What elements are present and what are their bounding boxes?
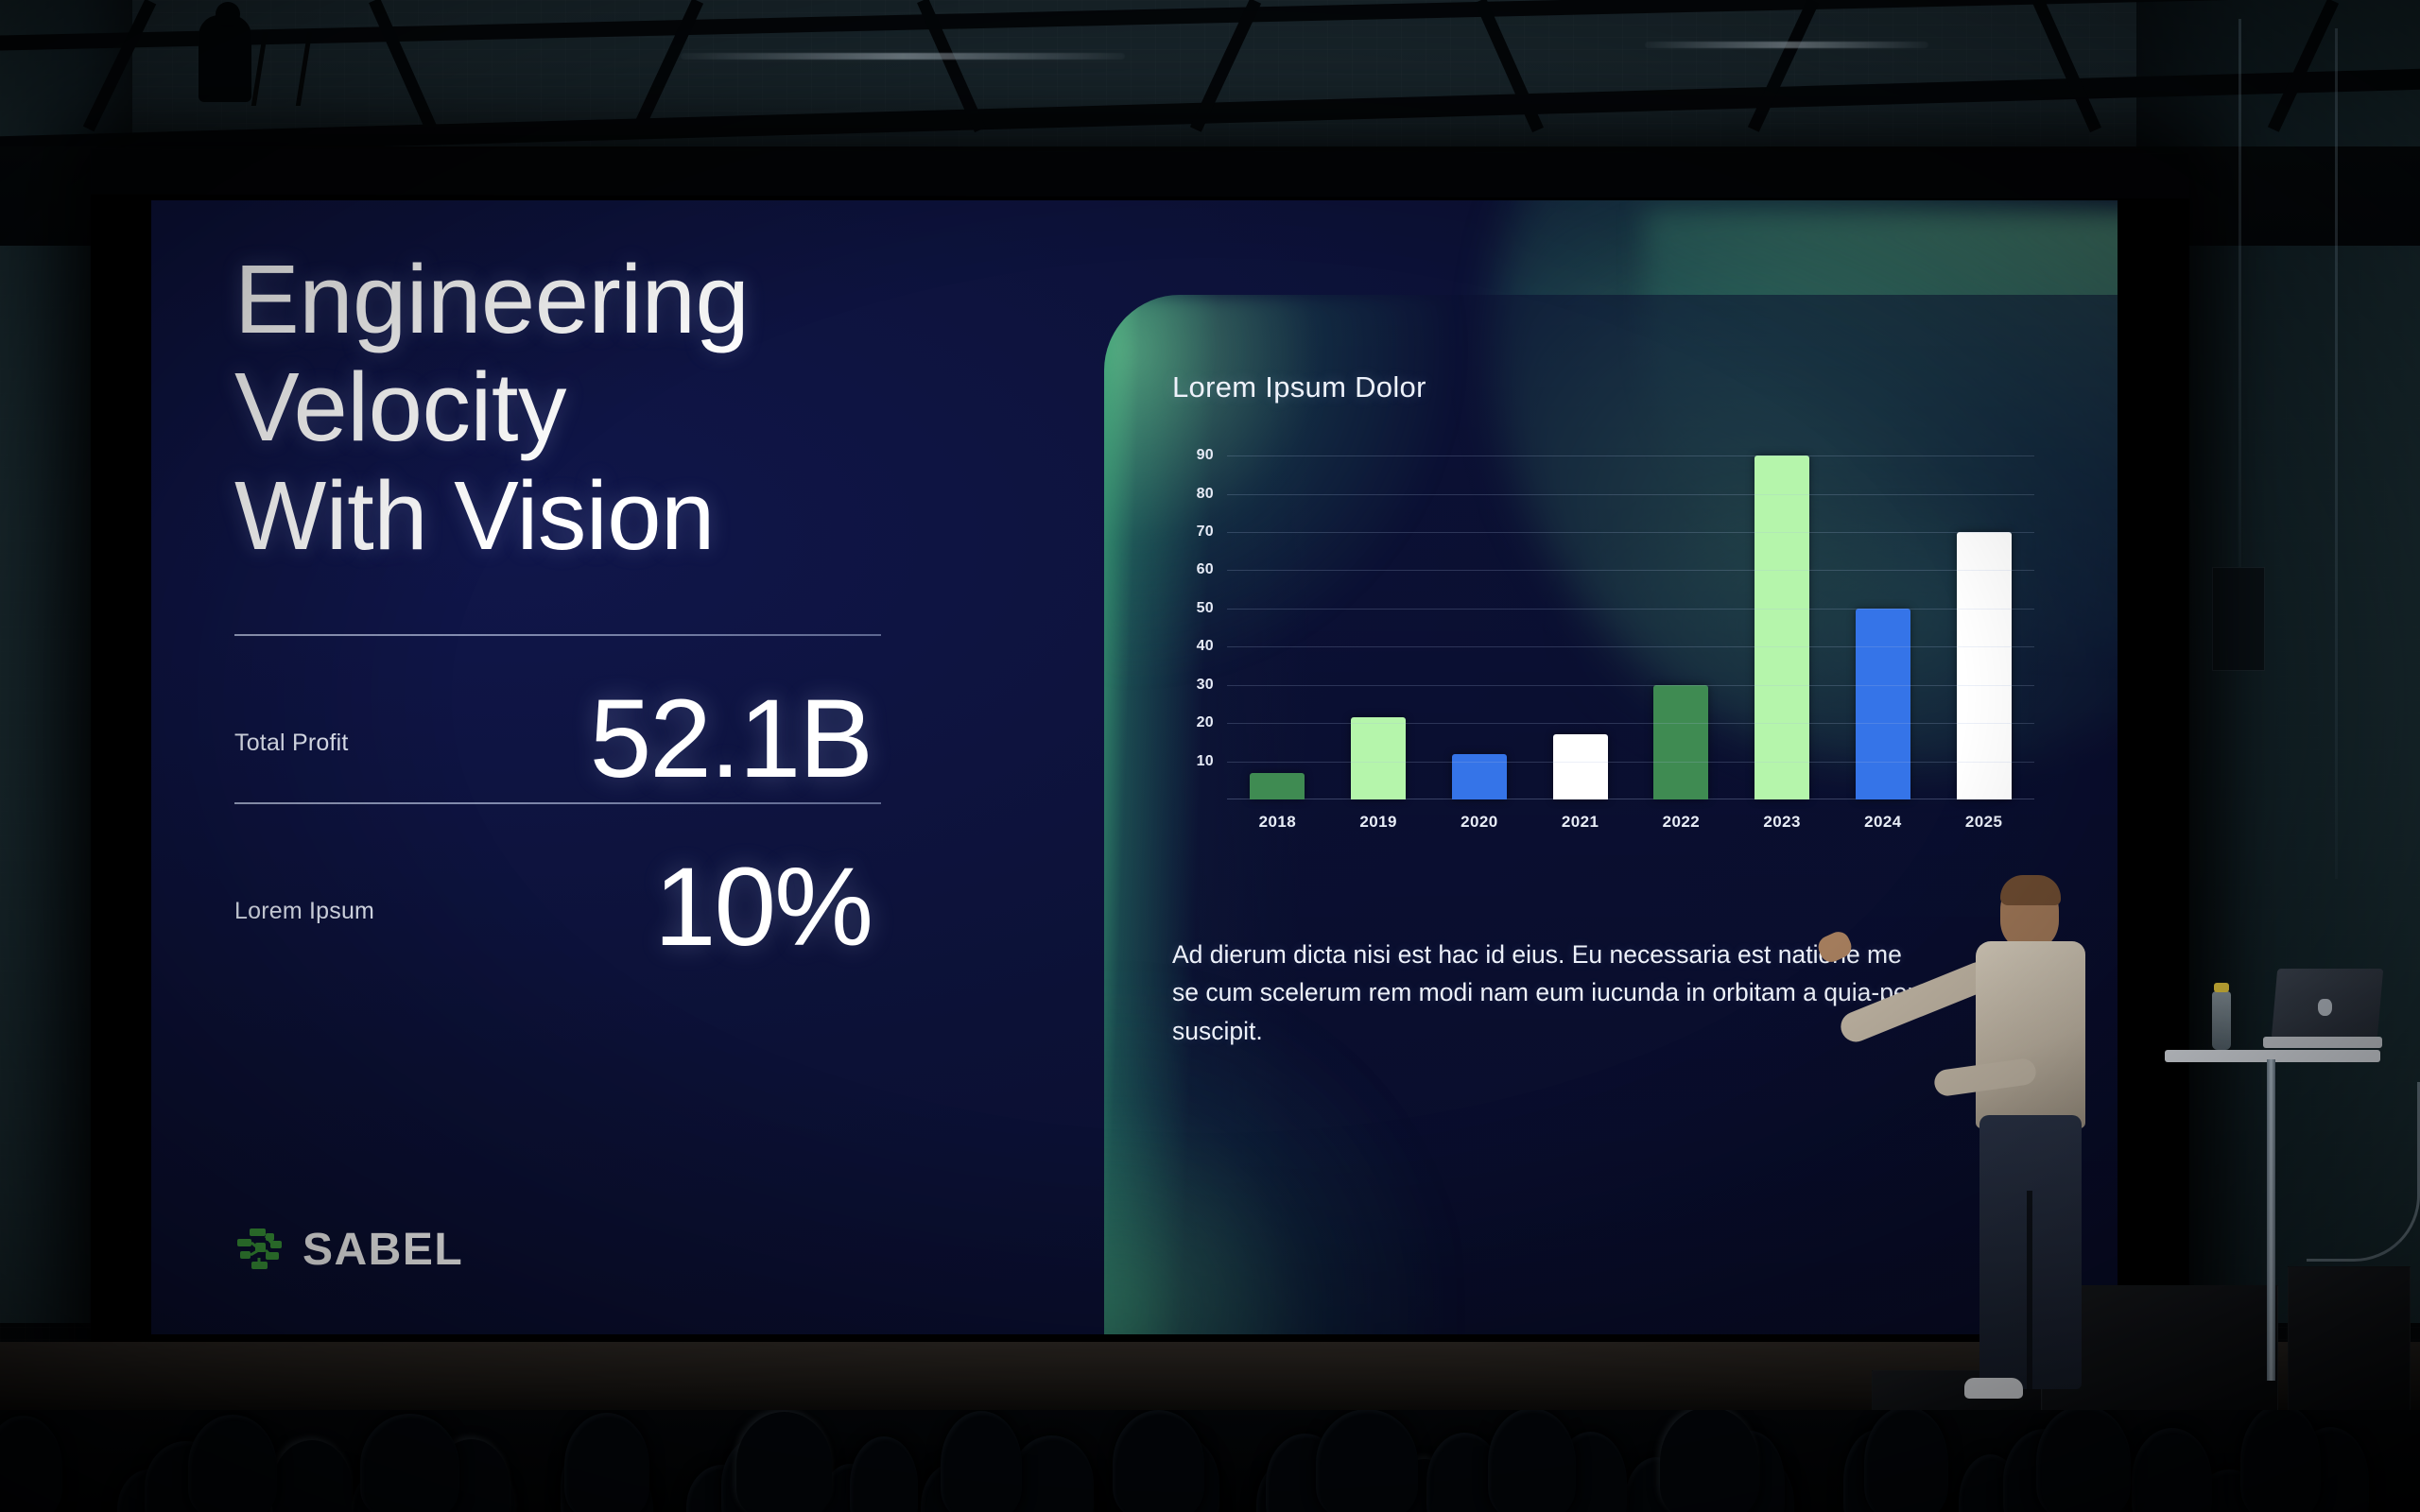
x-axis-tick-label: 2020 — [1429, 813, 1530, 832]
laptop-keyboard — [2263, 1037, 2382, 1048]
logo-wordmark: SABEL — [302, 1224, 463, 1276]
x-axis-tick-label: 2023 — [1732, 813, 1833, 832]
truss-diagonal — [369, 0, 438, 132]
bar-2021[interactable] — [1553, 734, 1608, 799]
truss-diagonal — [2032, 0, 2101, 132]
bar-2019[interactable] — [1351, 717, 1406, 799]
metric-lorem-ipsum: Lorem Ipsum 10% — [234, 804, 881, 971]
y-axis-tick-label: 30 — [1197, 677, 1214, 694]
gridline — [1227, 532, 2034, 533]
gridline — [1227, 723, 2034, 724]
panel-body-text: Ad dierum dicta nisi est hac id eius. Eu… — [1172, 936, 1928, 1050]
y-axis-tick-label: 60 — [1197, 561, 1214, 578]
bar-slot — [1631, 437, 1732, 799]
screen-bezel — [91, 149, 2189, 199]
bar-series — [1227, 437, 2034, 799]
audience-head — [2036, 1410, 2131, 1512]
audience-head — [0, 1416, 62, 1512]
presenter-hair — [2000, 875, 2061, 905]
audience-head — [1113, 1410, 1204, 1512]
bar-chart: 102030405060708090 201820192020202120222… — [1172, 437, 2034, 843]
audience-head — [1660, 1410, 1758, 1512]
y-axis: 102030405060708090 — [1172, 437, 1221, 799]
presenter-shirt — [1976, 941, 2085, 1128]
y-axis-tick-label: 90 — [1197, 447, 1214, 464]
audience-silhouettes — [0, 1410, 2420, 1512]
headline-line-2: Velocity — [234, 353, 1010, 461]
metric-total-profit: Total Profit 52.1B — [234, 636, 881, 802]
audience-head — [2132, 1428, 2212, 1512]
rigger-head — [216, 2, 240, 26]
bar-slot — [1530, 437, 1631, 799]
presentation-scene: Engineering Velocity With Vision Total P… — [0, 0, 2420, 1512]
y-axis-tick-label: 50 — [1197, 600, 1214, 617]
y-axis-tick-label: 80 — [1197, 486, 1214, 503]
truss-diagonal — [1748, 0, 1819, 132]
apple-logo-icon — [2318, 999, 2332, 1016]
x-axis-tick-label: 2024 — [1833, 813, 1934, 832]
x-axis-tick-label: 2022 — [1631, 813, 1732, 832]
bar-slot — [1328, 437, 1429, 799]
presenter-shoe — [1964, 1378, 2023, 1399]
gridline — [1227, 685, 2034, 686]
bar-2022[interactable] — [1653, 685, 1708, 799]
hanging-cable — [2238, 19, 2241, 586]
bar-slot — [1732, 437, 1833, 799]
gridline — [1227, 455, 2034, 456]
rigger-silhouette — [199, 15, 251, 102]
bottle-cap — [2214, 983, 2229, 992]
water-bottle — [2212, 991, 2231, 1050]
audience-head — [1316, 1410, 1418, 1512]
bar-slot — [1933, 437, 2034, 799]
headline-line-3: With Vision — [234, 462, 1010, 570]
gridline — [1227, 570, 2034, 571]
presenter-person — [1910, 879, 2155, 1408]
laptop-stand — [2165, 1025, 2382, 1394]
hanging-cable — [2335, 28, 2338, 879]
x-axis-tick-label: 2025 — [1933, 813, 2034, 832]
audience-head — [360, 1414, 459, 1512]
bar-2025[interactable] — [1957, 532, 2012, 799]
ceiling-light-bar — [681, 53, 1125, 60]
slide-left-column: Engineering Velocity With Vision Total P… — [234, 246, 1010, 971]
plot-area — [1227, 437, 2034, 799]
audience-head — [850, 1436, 918, 1512]
bar-slot — [1429, 437, 1530, 799]
headline-line-1: Engineering — [234, 246, 1010, 353]
page-title: Engineering Velocity With Vision — [234, 246, 1010, 570]
chart-title: Lorem Ipsum Dolor — [1172, 370, 1426, 404]
audience-head — [188, 1415, 277, 1512]
audience-head — [272, 1440, 352, 1512]
x-axis-tick-label: 2018 — [1227, 813, 1328, 832]
metric-label: Total Profit — [234, 730, 349, 757]
audience-head — [2240, 1410, 2321, 1512]
bar-2023[interactable] — [1754, 455, 1809, 799]
audience-head — [1010, 1435, 1094, 1512]
y-axis-tick-label: 20 — [1197, 714, 1214, 731]
x-axis-labels: 20182019202020212022202320242025 — [1227, 813, 2034, 832]
y-axis-tick-label: 10 — [1197, 753, 1214, 770]
presenter-leg-gap — [2027, 1191, 2032, 1389]
bar-2024[interactable] — [1856, 609, 1910, 799]
hanging-fixture — [2212, 567, 2265, 671]
audience-head — [564, 1413, 649, 1512]
bar-2018[interactable] — [1250, 773, 1305, 799]
y-axis-tick-label: 70 — [1197, 524, 1214, 541]
metric-label: Lorem Ipsum — [234, 898, 374, 925]
rigger-ladder — [251, 32, 312, 106]
gridline — [1227, 646, 2034, 647]
y-axis-tick-label: 40 — [1197, 638, 1214, 655]
truss-diagonal — [83, 0, 156, 131]
metric-value: 10% — [654, 851, 872, 963]
gridline — [1227, 762, 2034, 763]
bar-slot — [1833, 437, 1934, 799]
gridline — [1227, 609, 2034, 610]
ceiling-light-bar — [1645, 42, 1928, 48]
x-axis-tick-label: 2019 — [1328, 813, 1429, 832]
truss-diagonal — [2268, 0, 2339, 132]
brand-logo: SABEL — [234, 1224, 463, 1276]
audience-head — [1864, 1410, 1948, 1512]
metric-value: 52.1B — [590, 683, 872, 795]
gridline — [1227, 494, 2034, 495]
circuit-node-icon — [234, 1226, 285, 1275]
stand-pole — [2267, 1059, 2275, 1381]
laptop-cable — [2307, 1082, 2420, 1262]
audience-head — [1488, 1410, 1576, 1512]
audience-head — [736, 1412, 832, 1512]
audience-head — [941, 1411, 1022, 1512]
x-axis-tick-label: 2021 — [1530, 813, 1631, 832]
slide-canvas: Engineering Velocity With Vision Total P… — [151, 200, 2117, 1334]
bar-slot — [1227, 437, 1328, 799]
